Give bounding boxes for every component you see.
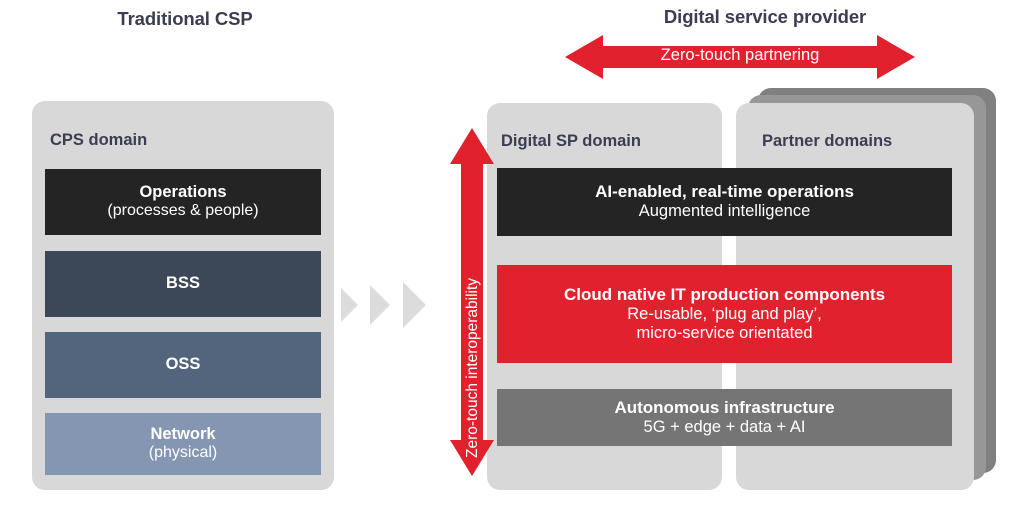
layer-autonomous-infra-title: Autonomous infrastructure	[614, 398, 834, 418]
layer-network: Network (physical)	[45, 413, 321, 475]
layer-bss: BSS	[45, 251, 321, 317]
layer-cloud-native-title: Cloud native IT production components	[564, 285, 885, 305]
layer-cloud-native-subtitle-2: micro-service orientated	[636, 324, 812, 343]
page-title-traditional-csp: Traditional CSP	[0, 8, 370, 30]
layer-autonomous-infrastructure: Autonomous infrastructure 5G + edge + da…	[497, 389, 952, 446]
layer-operations-title: Operations	[139, 183, 226, 202]
layer-oss-title: OSS	[166, 355, 201, 374]
transition-chevron-2-icon	[370, 285, 390, 325]
layer-cloud-native-subtitle-1: Re-usable, ‘plug and play’,	[627, 305, 821, 324]
transition-chevron-1-icon	[341, 288, 358, 322]
layer-operations-subtitle: (processes & people)	[107, 202, 258, 221]
diagram-canvas: Traditional CSP Digital service provider…	[0, 0, 1024, 531]
zero-touch-partnering-label: Zero-touch partnering	[565, 46, 915, 65]
layer-bss-title: BSS	[166, 274, 200, 293]
layer-cloud-native-components: Cloud native IT production components Re…	[497, 265, 952, 363]
layer-ai-operations-title: AI-enabled, real-time operations	[595, 182, 854, 202]
layer-network-title: Network	[150, 425, 215, 444]
layer-autonomous-infra-subtitle: 5G + edge + data + AI	[644, 418, 806, 437]
layer-network-subtitle: (physical)	[149, 444, 217, 463]
cps-domain-heading: CPS domain	[50, 131, 147, 150]
zero-touch-interoperability-label: Zero-touch interoperability	[464, 278, 482, 458]
layer-ai-enabled-operations: AI-enabled, real-time operations Augment…	[497, 168, 952, 236]
partner-domains-heading: Partner domains	[762, 132, 892, 151]
transition-chevron-3-icon	[403, 282, 426, 328]
digital-sp-domain-heading: Digital SP domain	[501, 132, 641, 151]
layer-ai-operations-subtitle: Augmented intelligence	[639, 202, 811, 221]
page-title-digital-service-provider: Digital service provider	[560, 6, 970, 28]
layer-oss: OSS	[45, 332, 321, 398]
layer-operations: Operations (processes & people)	[45, 169, 321, 235]
